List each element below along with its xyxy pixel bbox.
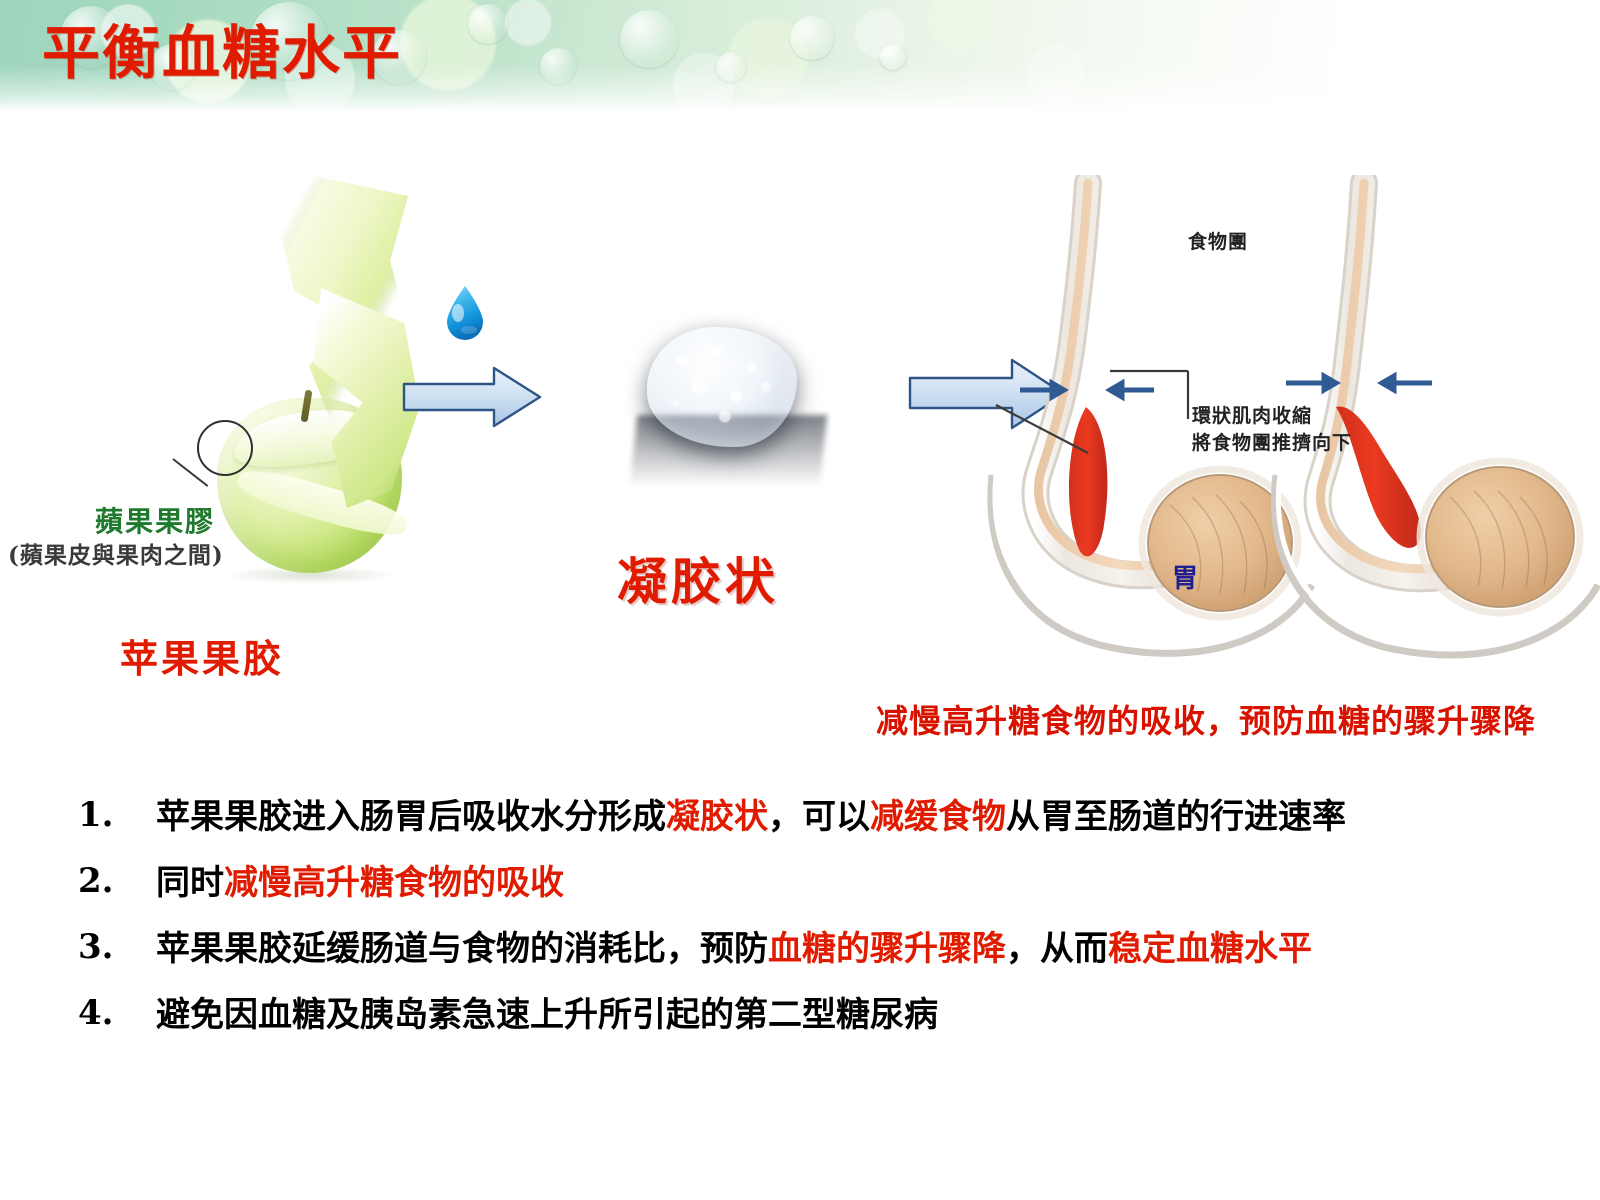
list-item-number: 3. [78, 927, 156, 967]
plain-text: 避免因血糖及胰岛素急速上升所引起的第二型糖尿病 [156, 995, 938, 1035]
highlight-text: 血糖的骤升骤降 [768, 929, 1006, 969]
plain-text: ，可以 [768, 797, 870, 837]
bullet-list: 1. 苹果果胶进入肠胃后吸收水分形成凝胶状，可以减缓食物从胃至肠道的行进速率 2… [78, 795, 1548, 1059]
list-item: 3. 苹果果胶延缓肠道与食物的消耗比，预防血糖的骤升骤降，从而稳定血糖水平 [78, 927, 1548, 971]
stomach-label: 胃 [1172, 558, 1198, 595]
ring-annotation-line2: 將食物團推擠向下 [1192, 432, 1352, 454]
list-item-number: 2. [78, 861, 156, 901]
list-item: 2. 同时减慢高升糖食物的吸收 [78, 861, 1548, 905]
plain-text: ，从而 [1006, 929, 1108, 969]
highlight-text: 减缓食物 [870, 797, 1006, 837]
slide-canvas: 平衡血糖水平 蘋果果膠 (蘋果皮與果肉之間) 苹果果胶 [0, 0, 1600, 1200]
gel-photo [537, 237, 889, 520]
list-item: 1. 苹果果胶进入肠胃后吸收水分形成凝胶状，可以减缓食物从胃至肠道的行进速率 [78, 795, 1548, 839]
ring-contraction-arrows-left [1020, 383, 1154, 397]
list-item-text: 避免因血糖及胰岛素急速上升所引起的第二型糖尿病 [156, 993, 938, 1037]
highlight-text: 减慢高升糖食物的吸收 [224, 863, 564, 903]
list-item-text: 苹果果胶延缓肠道与食物的消耗比，预防血糖的骤升骤降，从而稳定血糖水平 [156, 927, 1312, 971]
list-item: 4. 避免因血糖及胰岛素急速上升所引起的第二型糖尿病 [78, 993, 1548, 1037]
ring-annotation-line1: 環狀肌肉收縮 [1192, 405, 1312, 427]
stomach-diagram: 食物團 環狀肌肉收縮 將食物團推擠向下 胃 [960, 175, 1600, 675]
apple-pectin-label: 蘋果果膠 [95, 500, 215, 540]
circle-callout-icon [197, 420, 253, 476]
list-item-text: 同时减慢高升糖食物的吸收 [156, 861, 564, 905]
list-item-number: 1. [78, 795, 156, 835]
gel-specks [649, 329, 795, 441]
plain-text: 同时 [156, 863, 224, 903]
list-item-number: 4. [78, 993, 156, 1033]
highlight-text: 凝胶状 [666, 797, 768, 837]
apple-pectin-sublabel: (蘋果皮與果肉之間) [8, 536, 224, 570]
list-item-text: 苹果果胶进入肠胃后吸收水分形成凝胶状，可以减缓食物从胃至肠道的行进速率 [156, 795, 1346, 839]
water-drop-icon [443, 285, 487, 341]
gel-label: 凝胶状 [617, 542, 779, 614]
plain-text: 从胃至肠道的行进速率 [1006, 797, 1346, 837]
bolus-annotation: 食物團 [1188, 227, 1248, 254]
highlight-text: 稳定血糖水平 [1108, 929, 1312, 969]
stomach-red-caption: 减慢高升糖食物的吸收，预防血糖的骤升骤降 [876, 696, 1536, 742]
apple-pectin-red-label: 苹果果胶 [120, 628, 284, 683]
plain-text: 苹果果胶延缓肠道与食物的消耗比，预防 [156, 929, 768, 969]
ring-contraction-annotation: 環狀肌肉收縮 將食物團推擠向下 [1192, 403, 1352, 457]
page-title: 平衡血糖水平 [42, 16, 402, 90]
process-arrow-1-icon [402, 366, 542, 428]
plain-text: 苹果果胶进入肠胃后吸收水分形成 [156, 797, 666, 837]
